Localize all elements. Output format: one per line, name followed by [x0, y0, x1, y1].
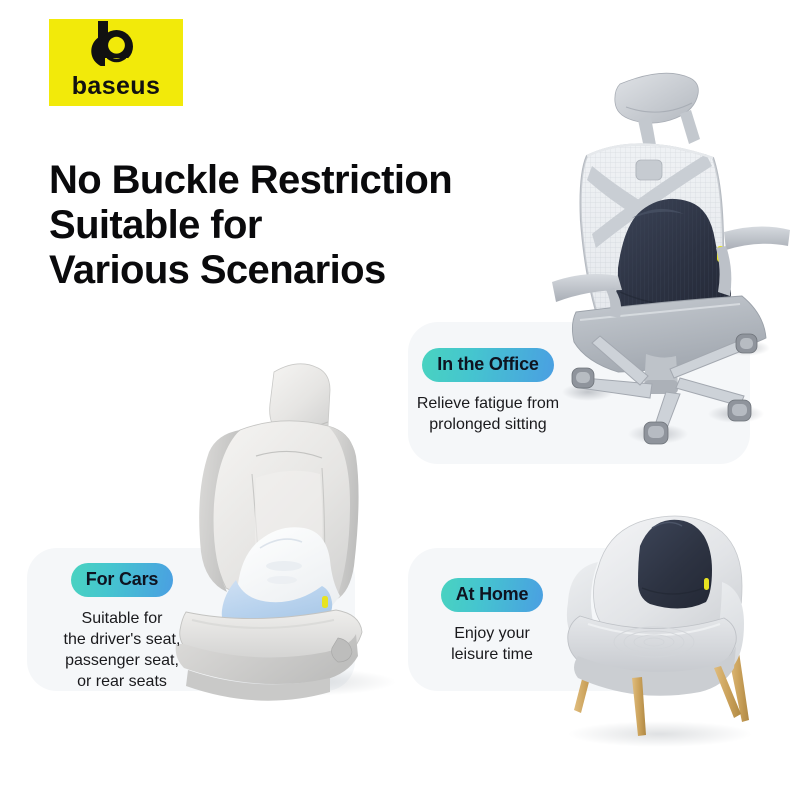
card-cars-desc-line-4: or rear seats	[64, 671, 181, 692]
scene-home-armchair	[532, 482, 784, 750]
card-cars: For Cars Suitable for the driver's seat,…	[40, 563, 204, 693]
card-office: In the Office Relieve fatigue from prolo…	[408, 348, 568, 435]
card-office-description: Relieve fatigue from prolonged sitting	[417, 393, 559, 436]
lumbar-cushion-home	[638, 520, 712, 609]
headline-line-3: Various Scenarios	[49, 248, 569, 293]
badge-for-cars: For Cars	[71, 563, 173, 597]
card-office-desc-line-2: prolonged sitting	[417, 414, 559, 435]
page-title: No Buckle Restriction Suitable for Vario…	[49, 158, 569, 294]
card-office-desc-line-1: Relieve fatigue from	[417, 393, 559, 414]
card-home-desc-line-2: leisure time	[451, 644, 533, 665]
card-home-desc-line-1: Enjoy your	[451, 623, 533, 644]
scene-car-seat	[170, 352, 420, 700]
svg-text:baseus: baseus	[72, 74, 161, 100]
card-cars-desc-line-3: passenger seat,	[64, 650, 181, 671]
baseus-b-monogram-icon	[87, 20, 145, 71]
card-cars-description: Suitable for the driver's seat, passenge…	[64, 608, 181, 693]
accent-tag-icon	[322, 596, 328, 608]
baseus-logo: baseus	[49, 19, 183, 106]
baseus-wordmark: baseus	[62, 74, 170, 105]
card-cars-desc-line-2: the driver's seat,	[64, 629, 181, 650]
card-cars-desc-line-1: Suitable for	[64, 608, 181, 629]
badge-in-the-office: In the Office	[422, 348, 553, 382]
accent-tag-icon	[704, 578, 709, 590]
poster-canvas: baseus No Buckle Restriction Suitable fo…	[0, 0, 800, 800]
chair-armrest-right	[716, 226, 790, 296]
headline-line-2: Suitable for	[49, 203, 569, 248]
card-home: At Home Enjoy your leisure time	[418, 578, 566, 665]
card-home-description: Enjoy your leisure time	[451, 623, 533, 666]
badge-at-home: At Home	[441, 578, 544, 612]
scene-office-chair	[540, 62, 800, 452]
headline-line-1: No Buckle Restriction	[49, 158, 569, 203]
